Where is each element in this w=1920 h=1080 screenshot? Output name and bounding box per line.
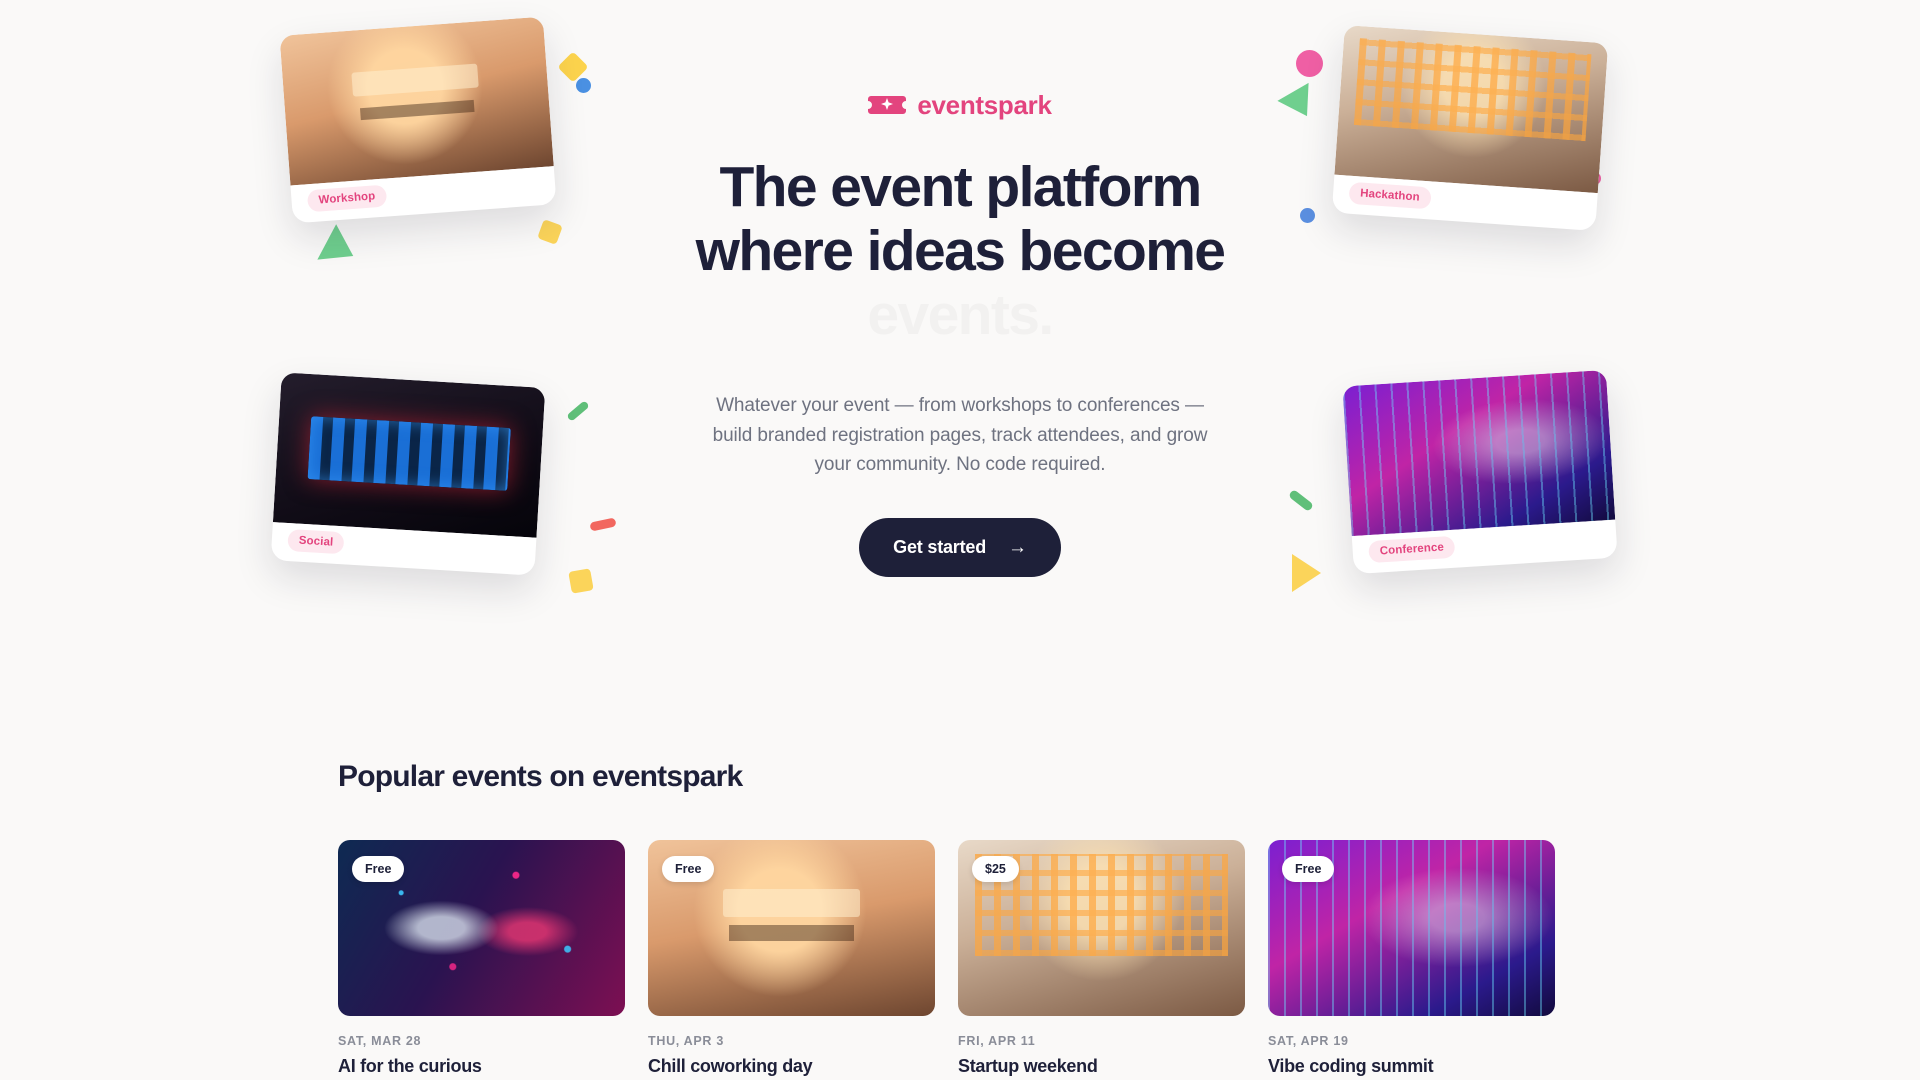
section-title: Popular events on eventspark [338,760,1582,794]
hero-photo [279,17,553,186]
green-bar-icon [566,400,590,422]
page-title: The event platform where ideas become ev… [610,156,1310,347]
event-thumbnail: $25 [958,840,1245,1016]
headline-line-1: The event platform [610,156,1310,220]
price-badge: $25 [972,856,1019,882]
headline-line-2: where ideas become [610,220,1310,284]
blue-circle-icon [576,78,591,93]
pink-circle-icon [1296,50,1323,77]
event-thumbnail: Free [1268,840,1555,1016]
event-date: THU, APR 3 [648,1034,935,1048]
hero-subheadline: Whatever your event — from workshops to … [700,391,1220,479]
event-card[interactable]: Free SAT, MAR 28 AI for the curious [338,840,625,1077]
hero-photo [273,372,545,537]
landing-page: Workshop Hackathon Social Conference [0,0,1920,1080]
ticket-sparkle-icon [868,92,906,118]
event-date: SAT, MAR 28 [338,1034,625,1048]
get-started-label: Get started [893,537,986,558]
event-name: AI for the curious [338,1056,625,1077]
arrow-right-icon: → [1008,538,1027,557]
event-card[interactable]: Free SAT, APR 19 Vibe coding summit [1268,840,1555,1077]
headline-line-3: events. [610,284,1310,348]
hero-card-tag: Conference [1368,536,1455,563]
popular-events-section: Popular events on eventspark Free SAT, M… [0,760,1920,1077]
price-badge: Free [1282,856,1334,882]
event-card[interactable]: Free THU, APR 3 Chill coworking day [648,840,935,1077]
hero-card-tag: Hackathon [1348,182,1431,210]
price-badge: Free [662,856,714,882]
price-badge: Free [352,856,404,882]
green-triangle-icon [317,224,362,273]
hero-section: Workshop Hackathon Social Conference [0,0,1920,700]
hero-photo-card[interactable]: Workshop [279,17,556,224]
event-name: Chill coworking day [648,1056,935,1077]
event-name: Startup weekend [958,1056,1245,1077]
hero-photo [1334,25,1608,193]
event-grid: Free SAT, MAR 28 AI for the curious Free… [338,840,1582,1077]
event-date: SAT, APR 19 [1268,1034,1555,1048]
brand-name: eventspark [917,92,1051,118]
event-thumbnail: Free [338,840,625,1016]
hero-photo-card[interactable]: Hackathon [1332,25,1608,231]
event-card[interactable]: $25 FRI, APR 11 Startup weekend [958,840,1245,1077]
event-name: Vibe coding summit [1268,1056,1555,1077]
hero-card-tag: Social [287,529,345,554]
event-date: FRI, APR 11 [958,1034,1245,1048]
hero-card-tag: Workshop [307,185,387,213]
hero-photo-card[interactable]: Social [271,372,546,575]
event-thumbnail: Free [648,840,935,1016]
get-started-button[interactable]: Get started → [859,518,1061,577]
brand-logo[interactable]: eventspark [610,92,1310,118]
yellow-square-icon [568,568,593,593]
yellow-square-icon [537,219,563,245]
hero-photo-card[interactable]: Conference [1342,370,1617,574]
hero-photo [1342,370,1615,536]
